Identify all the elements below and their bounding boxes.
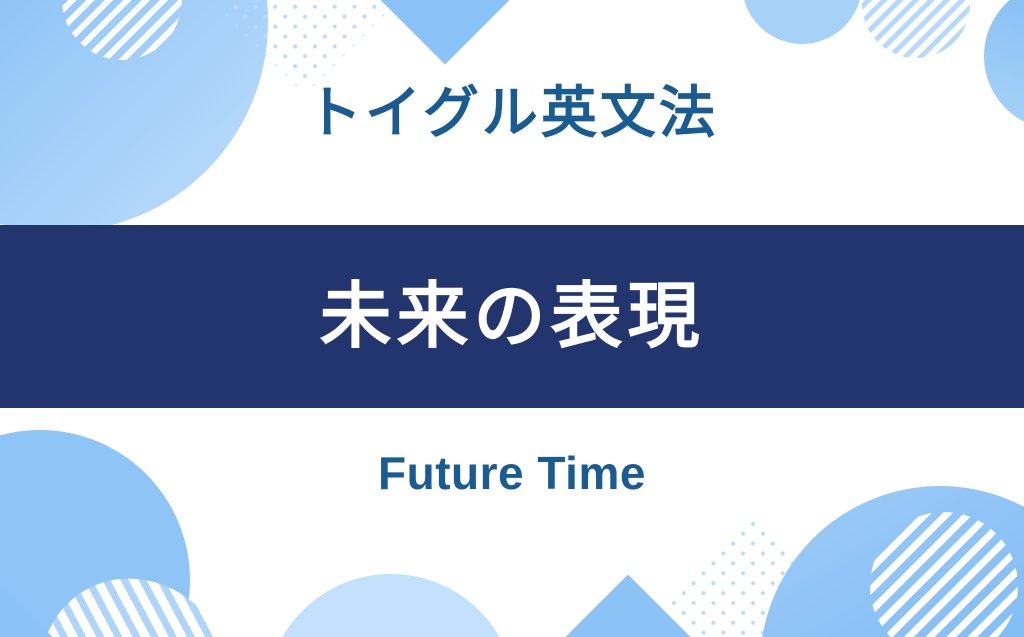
subtitle-zone: Future Time	[0, 408, 1024, 637]
banner: 未来の表現	[0, 225, 1024, 408]
slide-canvas: トイグル英文法 未来の表現 Future Time	[0, 0, 1024, 637]
subtitle: Future Time	[378, 450, 646, 496]
banner-title: 未来の表現	[319, 281, 704, 353]
series-title: トイグル英文法	[306, 85, 718, 141]
series-title-zone: トイグル英文法	[0, 0, 1024, 225]
slide-content: トイグル英文法 未来の表現 Future Time	[0, 0, 1024, 637]
